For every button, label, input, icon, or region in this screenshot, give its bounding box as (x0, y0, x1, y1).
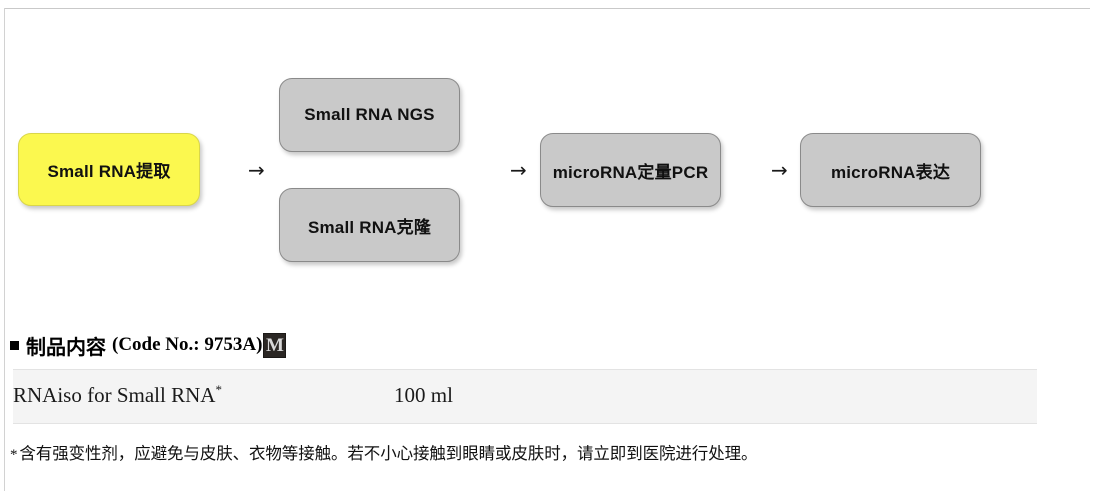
bullet-square-icon (10, 341, 19, 350)
flow-node-label: Small RNA克隆 (308, 213, 431, 238)
flow-node-label: Small RNA提取 (47, 157, 170, 182)
product-name-footnote-mark: * (215, 382, 222, 397)
workflow-diagram: Small RNA提取 → Small RNA NGS Small RNA克隆 … (0, 0, 1094, 300)
product-code-text: (Code No.: 9753A) (112, 334, 262, 356)
table-cell-quantity: 100 ml (394, 383, 453, 408)
m-badge-icon: M (263, 333, 286, 358)
flow-node-small-rna-extraction: Small RNA提取 (18, 133, 200, 206)
document-page: Small RNA提取 → Small RNA NGS Small RNA克隆 … (0, 0, 1094, 491)
flow-arrow-right-icon: → (510, 160, 527, 180)
flow-node-label: microRNA定量PCR (553, 158, 709, 183)
flow-arrow-right-icon: → (248, 160, 265, 180)
flow-node-microrna-expression: microRNA表达 (800, 133, 981, 207)
product-contents-table: RNAiso for Small RNA* 100 ml (13, 369, 1037, 424)
section-heading: 制品内容 (Code No.: 9753A) M (10, 330, 286, 360)
footnote: *含有强变性剂，应避免与皮肤、衣物等接触。若不小心接触到眼睛或皮肤时，请立即到医… (10, 440, 1070, 464)
flow-node-label: Small RNA NGS (304, 105, 434, 125)
flow-node-microrna-quantitative-pcr: microRNA定量PCR (540, 133, 721, 207)
footnote-mark: * (10, 447, 17, 463)
table-row: RNAiso for Small RNA* 100 ml (13, 370, 1037, 423)
flow-node-label: microRNA表达 (831, 158, 950, 183)
footnote-text: 含有强变性剂，应避免与皮肤、衣物等接触。若不小心接触到眼睛或皮肤时，请立即到医院… (19, 444, 757, 463)
section-title: 制品内容 (26, 331, 106, 360)
product-name-text: RNAiso for Small RNA (13, 383, 215, 407)
flow-arrow-right-icon: → (771, 160, 788, 180)
table-cell-product-name: RNAiso for Small RNA* (13, 383, 222, 408)
flow-node-small-rna-cloning: Small RNA克隆 (279, 188, 460, 262)
flow-node-small-rna-ngs: Small RNA NGS (279, 78, 460, 152)
